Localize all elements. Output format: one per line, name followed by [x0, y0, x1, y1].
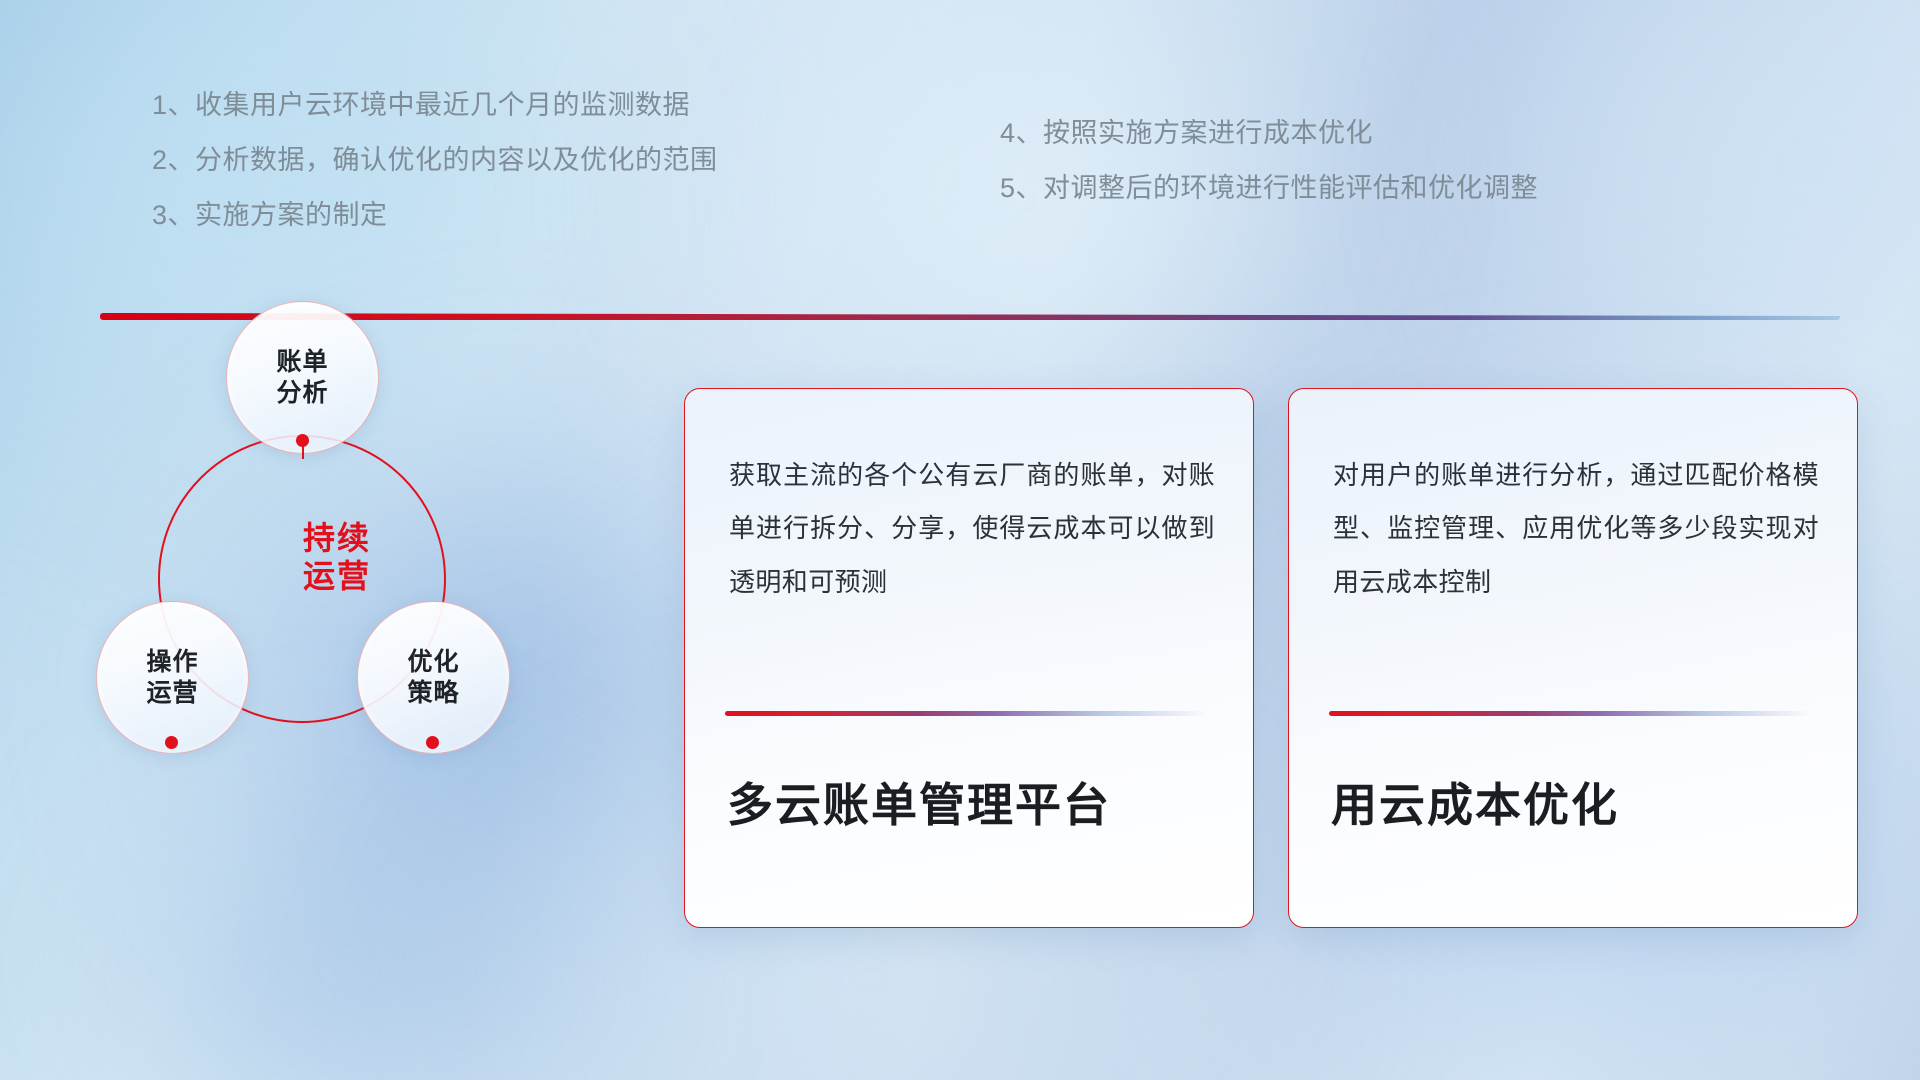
venn-circle-billing-analysis[interactable]: 账单 分析 [226, 301, 379, 454]
venn-circle-label: 优化 策略 [407, 647, 459, 708]
step-item: 5、对调整后的环境进行性能评估和优化调整 [1000, 175, 1538, 202]
connector-node-top [296, 434, 309, 447]
card-accent-rule [725, 711, 1207, 716]
venn-circle-operations[interactable]: 操作 运营 [96, 601, 249, 754]
feature-card-cost-optimization[interactable]: 对用户的账单进行分析，通过匹配价格模型、监控管理、应用优化等多少段实现对用云成本… [1288, 388, 1858, 928]
card-title: 多云账单管理平台 [727, 769, 1111, 835]
connector-node-left [165, 736, 178, 749]
step-item: 1、收集用户云环境中最近几个月的监测数据 [152, 92, 718, 119]
venn-circle-label: 账单 分析 [276, 347, 328, 408]
card-accent-rule [1329, 711, 1811, 716]
card-description: 对用户的账单进行分析，通过匹配价格模型、监控管理、应用优化等多少段实现对用云成本… [1333, 449, 1819, 609]
step-item: 3、实施方案的制定 [152, 202, 718, 229]
step-item: 4、按照实施方案进行成本优化 [1000, 120, 1538, 147]
step-item: 2、分析数据，确认优化的内容以及优化的范围 [152, 147, 718, 174]
connector-node-right [426, 736, 439, 749]
venn-center-label: 持续 运营 [303, 519, 371, 596]
venn-circle-optimization-strategy[interactable]: 优化 策略 [357, 601, 510, 754]
card-title: 用云成本优化 [1331, 769, 1619, 835]
feature-card-multicloud-billing[interactable]: 获取主流的各个公有云厂商的账单，对账单进行拆分、分享，使得云成本可以做到透明和可… [684, 388, 1254, 928]
venn-diagram: 持续 运营 账单 分析 操作 运营 优化 策略 [85, 295, 545, 775]
connector-stem [302, 445, 304, 459]
steps-list-right: 4、按照实施方案进行成本优化 5、对调整后的环境进行性能评估和优化调整 [1000, 120, 1538, 230]
steps-list-left: 1、收集用户云环境中最近几个月的监测数据 2、分析数据，确认优化的内容以及优化的… [152, 92, 718, 257]
card-description: 获取主流的各个公有云厂商的账单，对账单进行拆分、分享，使得云成本可以做到透明和可… [729, 449, 1215, 609]
venn-circle-label: 操作 运营 [146, 647, 198, 708]
